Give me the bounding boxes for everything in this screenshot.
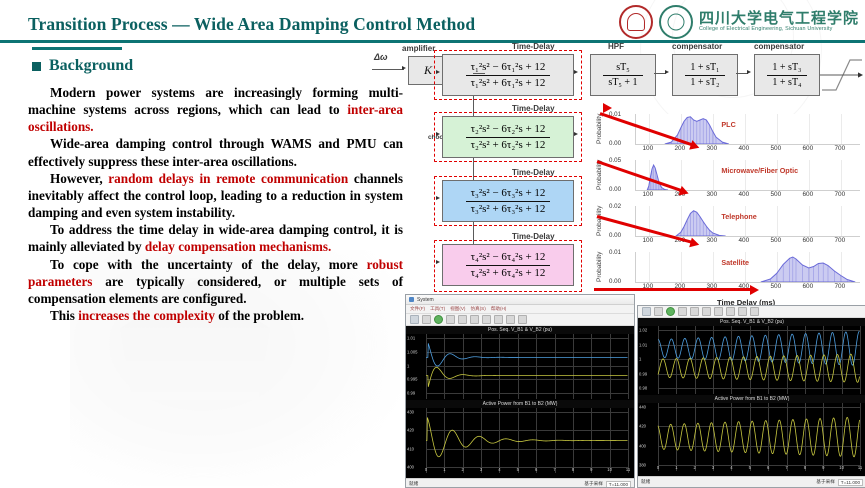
delay-2-in-arrow-icon — [436, 132, 440, 136]
body-paragraph: To cope with the uncertainty of the dela… — [28, 256, 403, 307]
chart-xtick: 300 — [706, 191, 717, 198]
chart-ytick: 0.00 — [609, 278, 621, 285]
delay-4-in-arrow-icon — [436, 260, 440, 264]
section-heading: Background — [32, 57, 133, 75]
sim-menu-item[interactable]: 视图(V) — [450, 306, 465, 312]
chart-plot-area — [635, 114, 860, 145]
chart-ytick: 0.05 — [609, 157, 621, 164]
compensator-block-2: 1 + sT₃ 1 + sT₄ — [754, 54, 820, 96]
body-text-run: This — [50, 308, 78, 323]
settings-icon[interactable] — [642, 307, 651, 316]
scope-xtick: 2 — [462, 467, 464, 472]
scope-panel: Active Power from B1 to B2 (MW)430420410… — [406, 400, 634, 474]
delay-2-out-arrow-icon — [574, 132, 578, 136]
sim-left-status-right: T=11.000 — [606, 481, 631, 488]
scope-xtick: 1 — [675, 465, 677, 470]
compensator-1-label: compensator — [672, 42, 722, 51]
highlighted-phrase: random delays in remote communication — [108, 171, 348, 186]
settings-icon[interactable] — [410, 315, 419, 324]
university-name-en: College of Electrical Engineering, Sichu… — [699, 26, 859, 32]
scope-panel: Active Power from B1 to B2 (MW)440420400… — [638, 395, 865, 472]
zoom-icon[interactable] — [714, 307, 723, 316]
scope-panel: Pos. Seq. V_B1 & V_B2 (pu)1.021.0110.990… — [638, 318, 865, 395]
chart-xtick: 100 — [642, 191, 653, 198]
delay-4-denominator: τ₄²s² + 6τ₄²s + 12 — [466, 266, 551, 280]
sim-right-toolbar[interactable] — [638, 306, 865, 318]
chart-xtick: 700 — [834, 283, 845, 290]
scope-xtick: 11 — [858, 465, 862, 470]
scope-xtick: 2 — [694, 465, 696, 470]
compensator-block-1: 1 + sT₁ 1 + sT₂ — [672, 54, 738, 96]
delay-2-numerator: τ₂²s² − 6τ₂²s + 12 — [466, 123, 551, 138]
chart-plot-area — [635, 206, 860, 237]
body-text-run: To cope with the uncertainty of the dela… — [50, 257, 367, 272]
scope-xtick: 10 — [607, 467, 612, 472]
simulation-window-right[interactable]: Pos. Seq. V_B1 & V_B2 (pu)1.021.0110.990… — [637, 305, 865, 488]
comp-1-numerator: 1 + sT₁ — [685, 62, 724, 76]
scope-panel: Pos. Seq. V_B1 & V_B2 (pu)1.011.00510.99… — [406, 326, 634, 400]
sim-right-status-mid: 基于采样 — [816, 479, 834, 485]
body-paragraph: To address the time delay in wide-area d… — [28, 221, 403, 255]
chart-xtick: 500 — [770, 237, 781, 244]
chart-xtick: 300 — [706, 145, 717, 152]
delay-3-denominator: τ₃²s² + 6τ₃²s + 12 — [466, 202, 551, 216]
chart-ytick: 0.00 — [609, 232, 621, 239]
sim-left-title: System — [417, 297, 434, 303]
delay-block-4: τ₄²s² − 6τ₄²s + 12 τ₄²s² + 6τ₄²s + 12 — [442, 244, 574, 286]
chart-xtick: 500 — [770, 145, 781, 152]
title-divider — [0, 40, 865, 43]
delay-probability-charts: Time Delay (ms) Probability0.000.0110020… — [597, 112, 865, 308]
stop-icon[interactable] — [690, 307, 699, 316]
section-heading-label: Background — [49, 57, 133, 75]
scope-xtick: 7 — [785, 465, 787, 470]
sim-right-statusbar: 就绪 基于采样 T=11.000 — [638, 476, 865, 487]
college-seal-icon — [659, 5, 693, 39]
chart-series-label: Telephone — [721, 212, 756, 221]
sim-menu-item[interactable]: 仿真(S) — [470, 306, 485, 312]
back-icon[interactable] — [422, 315, 431, 324]
body-paragraph: Wide-area damping control through WAMS a… — [28, 135, 403, 169]
delay-1-in-arrow-icon — [436, 70, 440, 74]
zoom-icon[interactable] — [482, 315, 491, 324]
scope-plot-area: 43042041040001234567891011 — [406, 408, 634, 473]
delay-block-2: τ₂²s² − 6τ₂²s + 12 τ₂²s² + 6τ₂²s + 12 — [442, 116, 574, 158]
scope-xtick: 5 — [749, 465, 751, 470]
fit-icon[interactable] — [494, 315, 503, 324]
simulation-window-left[interactable]: System 文件(F)工具(T)视图(V)仿真(S)帮助(H) Pos. Se… — [405, 294, 635, 488]
sim-left-status-left: 就绪 — [409, 481, 418, 487]
scope-xtick: 9 — [590, 467, 592, 472]
chart-xtick: 100 — [642, 237, 653, 244]
scope-xtick: 4 — [730, 465, 732, 470]
delay-3-numerator: τ₃²s² − 6τ₃²s + 12 — [466, 187, 551, 202]
university-name-cn: 四川大学电气工程学院 — [699, 11, 859, 27]
chart-series-label: Satellite — [721, 258, 749, 267]
run-icon[interactable] — [666, 307, 675, 316]
body-text-column: Modern power systems are increasingly fo… — [28, 84, 403, 324]
scope-xtick: 8 — [572, 467, 574, 472]
delay-3-in-arrow-icon — [436, 196, 440, 200]
sim-left-statusbar: 就绪 基于采样 T=11.000 — [406, 478, 634, 488]
comp-2-denominator: 1 + sT₄ — [767, 76, 806, 89]
delay-1-out-arrow-icon — [574, 70, 578, 74]
section-heading-rule — [32, 47, 122, 50]
hpf-block: sT₅ sT₅ + 1 — [590, 54, 656, 96]
sim-left-status-mid: 基于采样 — [584, 481, 602, 487]
sim-left-titlebar[interactable]: System — [406, 295, 634, 305]
chart-ylabel: Probability — [596, 206, 603, 236]
body-paragraph: This increases the complexity of the pro… — [28, 307, 403, 324]
chart-xtick: 600 — [802, 237, 813, 244]
chart-xtick: 400 — [738, 191, 749, 198]
chart-ytick: 0.01 — [609, 249, 621, 256]
play-icon[interactable] — [446, 315, 455, 324]
scope-title: Pos. Seq. V_B1 & V_B2 (pu) — [406, 326, 634, 334]
chart-xtick: 400 — [738, 237, 749, 244]
probability-chart-row: Probability0.000.05100200300400500600700… — [597, 158, 865, 202]
sim-right-status-right: T=11.000 — [838, 479, 863, 486]
hpf-numerator: sT₅ — [603, 62, 642, 76]
chart-xtick: 600 — [802, 191, 813, 198]
pointer-arrow-satellite — [594, 288, 752, 291]
chart-xtick: 700 — [834, 237, 845, 244]
scope-xtick: 6 — [767, 465, 769, 470]
scope-title: Active Power from B1 to B2 (MW) — [406, 400, 634, 408]
delay-2-denominator: τ₂²s² + 6τ₂²s + 12 — [466, 138, 551, 152]
chart-xtick: 500 — [770, 283, 781, 290]
scope-xtick: 11 — [626, 467, 630, 472]
refresh-icon[interactable] — [470, 315, 479, 324]
chart-xtick: 700 — [834, 145, 845, 152]
hpf-out-arrow-icon — [665, 70, 669, 74]
scope-title: Pos. Seq. V_B1 & V_B2 (pu) — [638, 318, 865, 326]
edit-icon[interactable] — [750, 307, 759, 316]
sim-menu-item[interactable]: 工具(T) — [430, 306, 445, 312]
run-icon[interactable] — [434, 315, 443, 324]
comp-1-out-arrow-icon — [747, 70, 751, 74]
edit-icon[interactable] — [518, 315, 527, 324]
chart-ytick: 0.02 — [609, 203, 621, 210]
chart-xtick: 300 — [706, 237, 717, 244]
delay-block-1: τ₁²s² − 6τ₁²s + 12 τ₁²s² + 6τ₁²s + 12 — [442, 54, 574, 96]
scope-title: Active Power from B1 to B2 (MW) — [638, 395, 865, 403]
back-icon[interactable] — [654, 307, 663, 316]
chart-xtick: 600 — [802, 283, 813, 290]
scope-xtick: 1 — [443, 467, 445, 472]
chart-plot-area — [635, 252, 860, 283]
hpf-label: HPF — [608, 42, 624, 51]
scope-xtick: 7 — [553, 467, 555, 472]
scope-xtick: 0 — [657, 465, 659, 470]
scope-xtick: 9 — [822, 465, 824, 470]
amplifier-label: amplifier — [402, 44, 435, 53]
chart-ytick: 0.00 — [609, 140, 621, 147]
scope-xtick: 6 — [535, 467, 537, 472]
chart-xtick: 400 — [738, 145, 749, 152]
chart-xtick: 200 — [674, 145, 685, 152]
hpf-denominator: sT₅ + 1 — [603, 76, 642, 89]
sim-left-menubar[interactable]: 文件(F)工具(T)视图(V)仿真(S)帮助(H) — [406, 305, 634, 314]
sim-right-status-left: 就绪 — [641, 479, 650, 485]
university-logo: 四川大学电气工程学院 College of Electrical Enginee… — [619, 5, 859, 38]
delay-block-3: τ₃²s² − 6τ₃²s + 12 τ₃²s² + 6τ₃²s + 12 — [442, 180, 574, 222]
compensator-2-label: compensator — [754, 42, 804, 51]
sichuan-university-seal-icon — [619, 5, 653, 39]
chart-ylabel: Probability — [596, 252, 603, 282]
fit-icon[interactable] — [726, 307, 735, 316]
chart-xtick: 500 — [770, 191, 781, 198]
probability-chart-row: Probability0.000.01100200300400500600700… — [597, 112, 865, 156]
body-text-run: of the problem. — [215, 308, 304, 323]
highlighted-phrase: delay compensation mechanisms. — [145, 239, 331, 254]
stop-icon[interactable] — [458, 315, 467, 324]
body-paragraph: Modern power systems are increasingly fo… — [28, 84, 403, 135]
input-wire — [372, 69, 404, 70]
comp-2-numerator: 1 + sT₃ — [767, 62, 806, 76]
sim-menu-item[interactable]: 文件(F) — [410, 306, 425, 312]
page-title: Transition Process — Wide Area Damping C… — [28, 14, 475, 35]
sim-left-toolbar[interactable] — [406, 314, 634, 326]
scope-xtick: 3 — [712, 465, 714, 470]
delay-1-denominator: τ₁²s² + 6τ₁²s + 12 — [466, 76, 551, 90]
chart-ylabel: Probability — [596, 114, 603, 144]
scope-xtick: 8 — [804, 465, 806, 470]
delay-4-numerator: τ₄²s² − 6τ₄²s + 12 — [466, 251, 551, 266]
bold-f-icon[interactable] — [738, 307, 747, 316]
sim-window-icon — [409, 297, 414, 302]
scope-xtick: 3 — [480, 467, 482, 472]
scope-xtick: 4 — [498, 467, 500, 472]
highlighted-phrase: increases the complexity — [78, 308, 215, 323]
square-bullet-icon — [32, 62, 41, 71]
delta-omega-label: Δω — [374, 52, 388, 62]
chart-xtick: 100 — [642, 145, 653, 152]
chart-series-label: Microwave/Fiber Optic — [721, 166, 798, 175]
chart-series-label: PLC — [721, 120, 735, 129]
scope-xtick: 10 — [839, 465, 844, 470]
chart-xtick: 600 — [802, 145, 813, 152]
refresh-icon[interactable] — [702, 307, 711, 316]
sim-menu-item[interactable]: 帮助(H) — [491, 306, 507, 312]
scope-plot-area: 1.021.0110.990.98 — [638, 326, 865, 394]
scope-xtick: 0 — [425, 467, 427, 472]
scope-plot-area: 1.011.00510.9950.99 — [406, 334, 634, 399]
input-arrow-icon — [402, 66, 406, 70]
bold-f-icon[interactable] — [506, 315, 515, 324]
saturation-block-icon — [820, 52, 864, 96]
chart-xtick: 700 — [834, 191, 845, 198]
scope-plot-area: 44042040038001234567891011 — [638, 403, 865, 471]
chart-ytick: 0.00 — [609, 186, 621, 193]
play-icon[interactable] — [678, 307, 687, 316]
scope-xtick: 5 — [517, 467, 519, 472]
body-text-run: However, — [50, 171, 108, 186]
body-paragraph: However, random delays in remote communi… — [28, 170, 403, 221]
body-text-run: Wide-area damping control through WAMS a… — [28, 136, 403, 168]
comp-1-denominator: 1 + sT₂ — [685, 76, 724, 89]
